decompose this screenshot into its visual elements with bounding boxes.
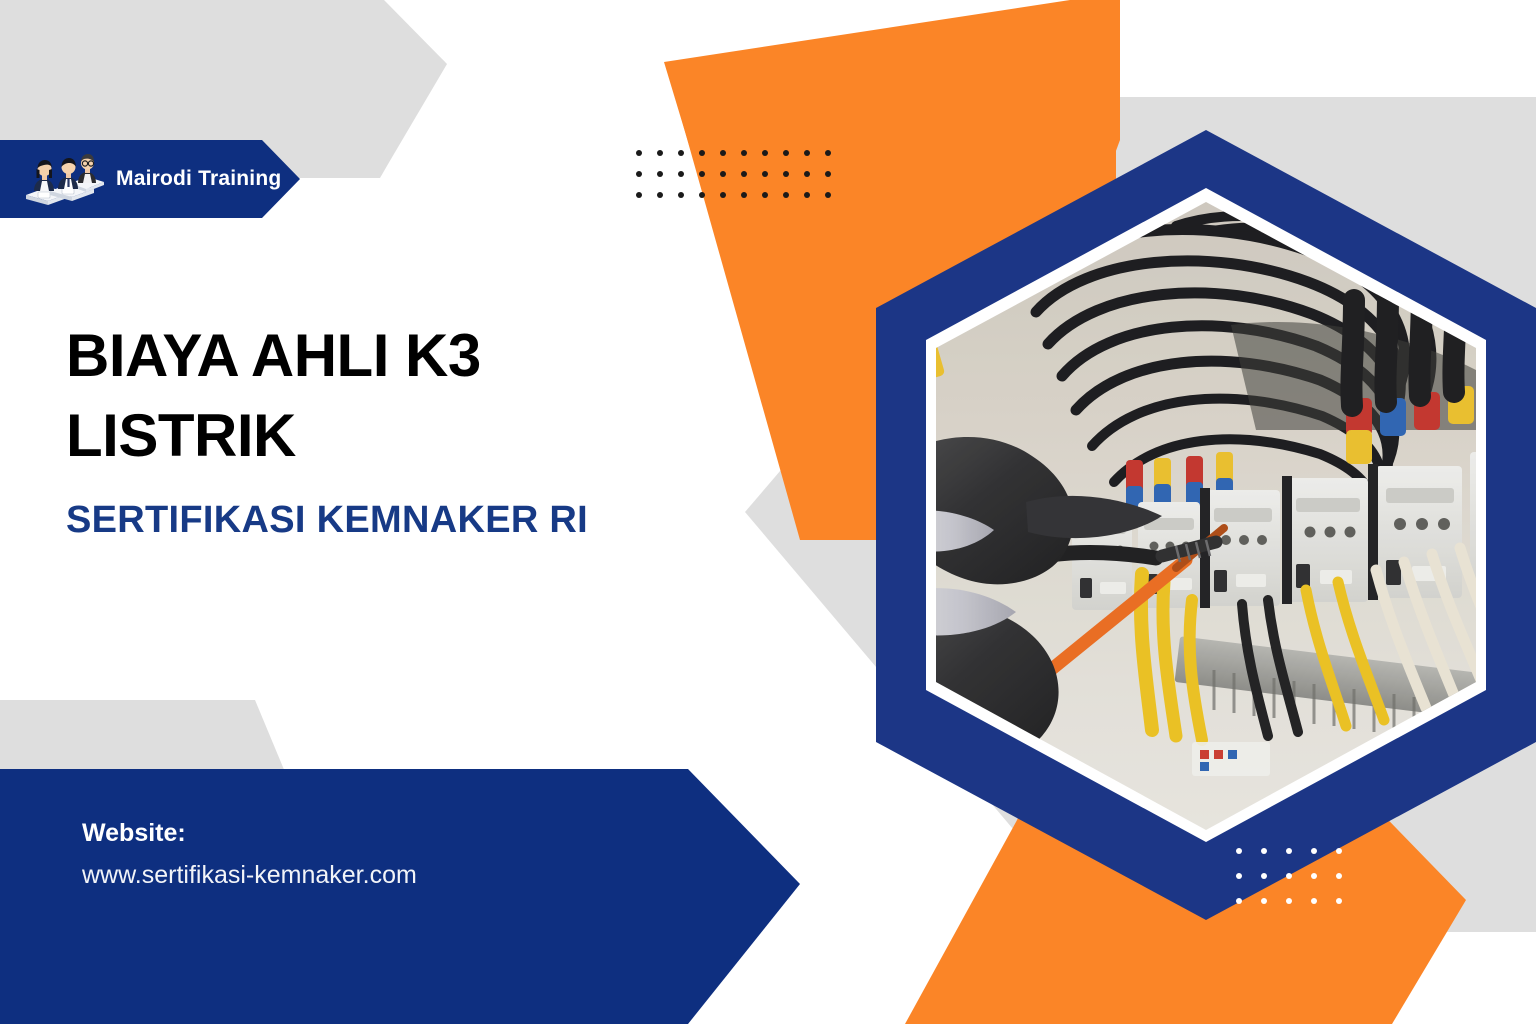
gray-arrow-bottom-left-shape: [0, 700, 285, 772]
website-url[interactable]: www.sertifikasi-kemnaker.com: [82, 859, 417, 892]
headline-block: BIAYA AHLI K3 LISTRIK SERTIFIKASI KEMNAK…: [66, 316, 766, 543]
hexagon-photo-frame: [876, 130, 1536, 920]
page-subtitle: SERTIFIKASI KEMNAKER RI: [66, 498, 766, 544]
dot-grid-top: [636, 150, 836, 202]
electrician-photo: [876, 130, 1536, 920]
website-label: Website:: [82, 815, 417, 853]
hexagon-photo-svg: [876, 130, 1536, 920]
page-title-line-2: LISTRIK: [66, 402, 296, 469]
page-title-line-1: BIAYA AHLI K3: [66, 322, 481, 389]
training-classroom-people-icon: [22, 151, 106, 207]
page-title: BIAYA AHLI K3 LISTRIK: [66, 316, 766, 476]
blue-footer-arrow-shape: [0, 769, 800, 1024]
logo-badge[interactable]: Mairodi Training: [0, 140, 300, 218]
logo-text: Mairodi Training: [116, 167, 281, 191]
poster-canvas: Mairodi Training BIAYA AHLI K3 LISTRIK S…: [0, 0, 1536, 1024]
website-block: Website: www.sertifikasi-kemnaker.com: [82, 815, 417, 891]
dot-grid-bottom: [1236, 848, 1346, 908]
